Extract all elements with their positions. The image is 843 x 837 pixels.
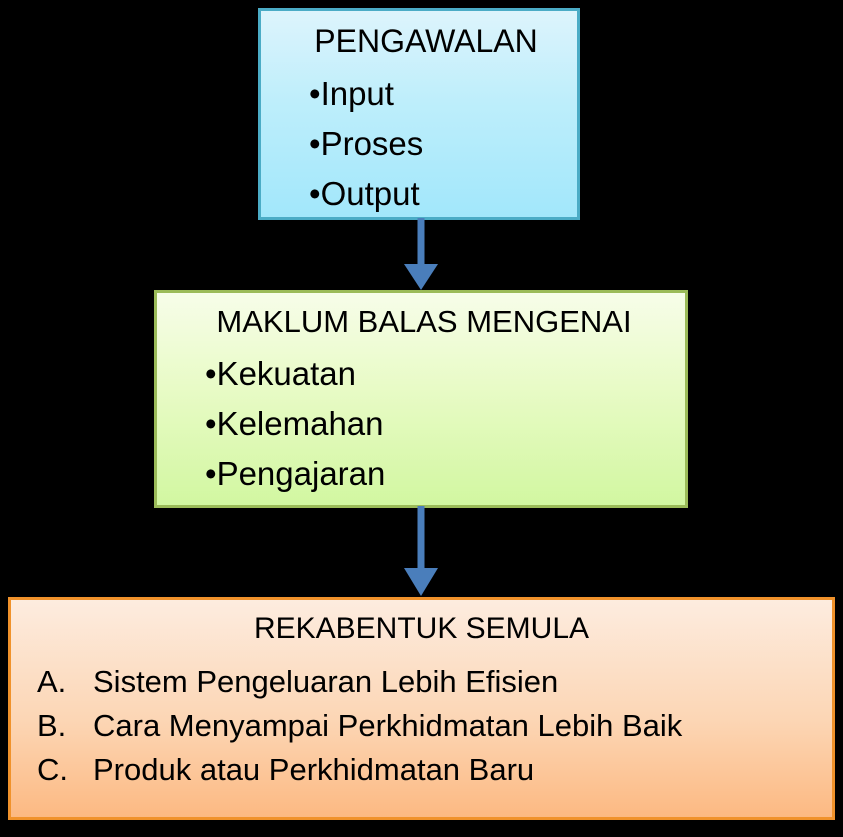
node-maklum-balas-bullet-list: •Kekuatan •Kelemahan •Pengajaran: [157, 349, 685, 499]
node-pengawalan-bullet-1-label: Proses: [321, 125, 424, 162]
list-item-label: Cara Menyampai Perkhidmatan Lebih Baik: [93, 710, 682, 741]
list-item-label: Sistem Pengeluaran Lebih Efisien: [93, 666, 558, 697]
node-rekabentuk-semula-list: A. Sistem Pengeluaran Lebih Efisien B. C…: [11, 660, 832, 792]
node-maklum-balas-bullet-1: •Kelemahan: [205, 399, 685, 449]
node-pengawalan-bullet-0: •Input: [309, 69, 577, 119]
node-rekabentuk-semula-title: REKABENTUK SEMULA: [11, 614, 832, 644]
bullet-point-icon: •: [205, 457, 217, 490]
node-pengawalan-bullet-0-label: Input: [321, 75, 394, 112]
list-item-marker: C.: [37, 754, 93, 785]
node-pengawalan-title: PENGAWALAN: [261, 25, 577, 57]
node-pengawalan-bullet-list: •Input •Proses •Output: [261, 69, 577, 219]
node-rekabentuk-semula[interactable]: REKABENTUK SEMULA A. Sistem Pengeluaran …: [8, 597, 835, 820]
bullet-point-icon: •: [205, 407, 217, 440]
arrow-pengawalan-to-maklum-icon: [396, 218, 446, 292]
list-item: B. Cara Menyampai Perkhidmatan Lebih Bai…: [37, 704, 832, 748]
list-item-marker: B.: [37, 710, 93, 741]
node-pengawalan[interactable]: PENGAWALAN •Input •Proses •Output: [258, 8, 580, 220]
flowchart-canvas: PENGAWALAN •Input •Proses •Output MAKLUM…: [0, 0, 843, 837]
bullet-point-icon: •: [309, 177, 321, 210]
bullet-point-icon: •: [309, 127, 321, 160]
node-maklum-balas-bullet-2-label: Pengajaran: [217, 455, 386, 492]
node-maklum-balas-bullet-0: •Kekuatan: [205, 349, 685, 399]
node-maklum-balas[interactable]: MAKLUM BALAS MENGENAI •Kekuatan •Kelemah…: [154, 290, 688, 508]
list-item: C. Produk atau Perkhidmatan Baru: [37, 748, 832, 792]
node-maklum-balas-title: MAKLUM BALAS MENGENAI: [157, 306, 685, 337]
node-maklum-balas-bullet-1-label: Kelemahan: [217, 405, 384, 442]
list-item: A. Sistem Pengeluaran Lebih Efisien: [37, 660, 832, 704]
node-maklum-balas-bullet-0-label: Kekuatan: [217, 355, 356, 392]
node-pengawalan-bullet-2-label: Output: [321, 175, 420, 212]
node-pengawalan-bullet-2: •Output: [309, 169, 577, 219]
node-maklum-balas-bullet-2: •Pengajaran: [205, 449, 685, 499]
list-item-marker: A.: [37, 666, 93, 697]
list-item-label: Produk atau Perkhidmatan Baru: [93, 754, 534, 785]
bullet-point-icon: •: [309, 77, 321, 110]
node-pengawalan-bullet-1: •Proses: [309, 119, 577, 169]
arrow-maklum-to-rekabentuk-icon: [396, 506, 446, 598]
bullet-point-icon: •: [205, 357, 217, 390]
